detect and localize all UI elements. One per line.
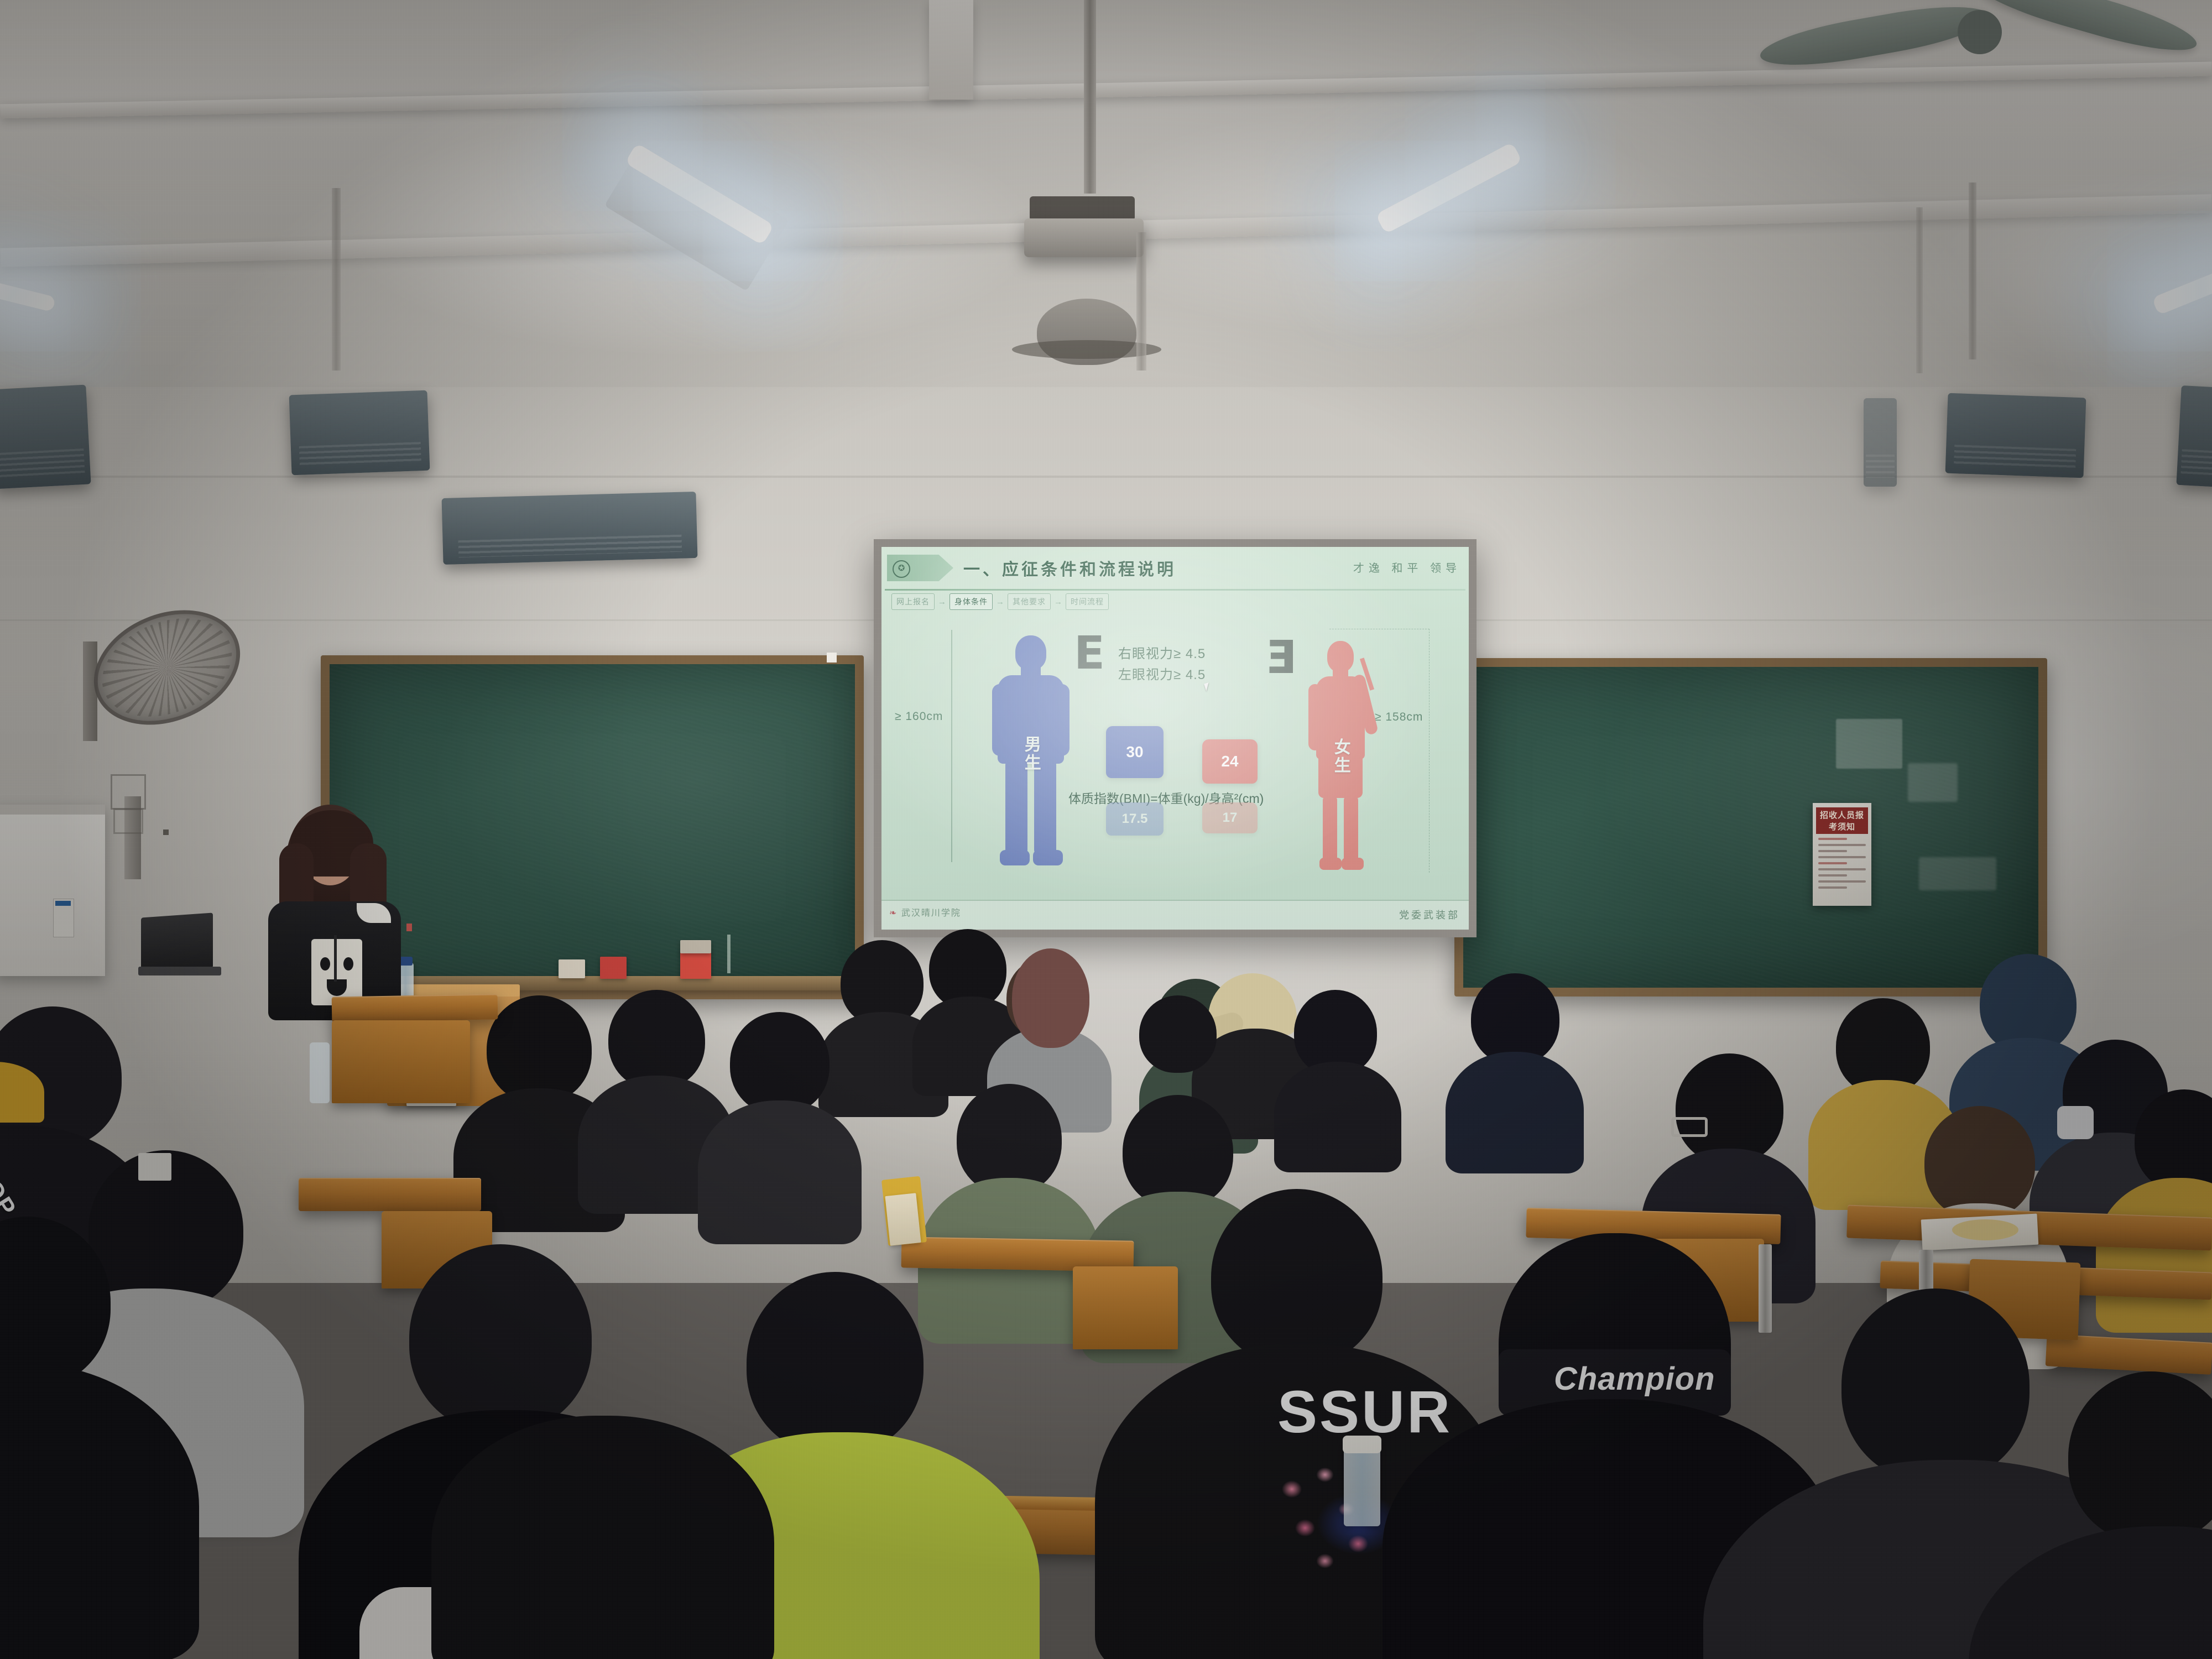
whiteboard-panel (0, 805, 105, 976)
projector (1024, 218, 1144, 257)
wall-pipe (332, 188, 341, 371)
poster-text-line (1818, 862, 1847, 864)
desk-row (2046, 1334, 2212, 1375)
flow-step-4[interactable]: 时间流程 (1066, 593, 1109, 610)
poster-text-line (1818, 874, 1847, 877)
beanie-brand-text: Champion (1554, 1360, 1715, 1397)
wall-pipe (1969, 182, 1976, 359)
wall-speaker (1945, 393, 2086, 478)
flow-arrow-icon: → (1054, 597, 1062, 607)
bottle-cap-front (1343, 1436, 1381, 1453)
bmi-min-male: 17.5 (1106, 802, 1164, 836)
vision-requirement-left-eye: 左眼视力≥ 4.5 (1118, 666, 1206, 684)
seat-back (332, 1020, 470, 1103)
seat-back (1073, 1266, 1178, 1349)
flow-arrow-icon: → (938, 597, 946, 607)
flow-step-2[interactable]: 身体条件 (950, 593, 993, 610)
wall-fixture (111, 774, 146, 810)
chalk-smudge (1836, 719, 1902, 769)
height-req-male: ≥ 160cm (895, 710, 943, 723)
poster-text-line (1818, 844, 1866, 846)
laptop-screen (141, 912, 213, 973)
male-silhouette: 男生 (992, 635, 1070, 873)
poster-text-line (1818, 880, 1866, 883)
flow-steps: 网上报名 → 身体条件 → 其他要求 → 时间流程 (891, 593, 1109, 610)
header-rule (885, 589, 1465, 591)
classroom-photo: 招收人员报考须知 ✪ 一、应征条件和流程说明 才逸 和平 领导 网上报名 → 身… (0, 0, 2212, 1659)
ceiling-fan (1759, 0, 2212, 105)
bottle-on-ledge (310, 1042, 330, 1103)
slide-content: ✪ 一、应征条件和流程说明 才逸 和平 领导 网上报名 → 身体条件 → 其他要… (881, 547, 1469, 930)
laptop-base (138, 967, 221, 975)
chalk-smudge (1919, 857, 1996, 890)
desk-row (332, 994, 498, 1022)
chalk-box-lid (680, 940, 711, 953)
notice-poster: 招收人员报考须知 (1813, 803, 1871, 906)
military-emblem-icon: ✪ (893, 560, 910, 578)
poster-text-line (1818, 850, 1847, 852)
whiteboard-top-rail (0, 805, 105, 815)
wall-fixture (113, 808, 143, 834)
chalk-smudge (1908, 763, 1958, 802)
chalk-box (680, 951, 711, 979)
wall-speaker (289, 390, 430, 476)
control-label (55, 901, 71, 906)
bmi-max-female: 24 (1202, 739, 1258, 784)
poster-text-line (1818, 838, 1847, 840)
poster-text-line (1818, 868, 1866, 870)
bmi-max-male: 30 (1106, 726, 1164, 778)
female-silhouette: 女生 (1307, 641, 1374, 873)
water-bottle-front (1344, 1443, 1380, 1526)
female-label: 女生 (1332, 738, 1349, 775)
desk-row (299, 1178, 481, 1211)
wall-speaker-wide (442, 492, 698, 565)
presenter (252, 805, 412, 1026)
university-logo-text: 武汉晴川学院 (901, 909, 961, 918)
slide-header: ✪ 一、应征条件和流程说明 才逸 和平 领导 (881, 552, 1469, 583)
wall-pipe (1916, 207, 1923, 373)
chalk-box (559, 959, 585, 978)
desk-note (885, 1193, 921, 1245)
poster-text-line (1818, 856, 1866, 858)
chalkboard-right (1454, 658, 2047, 997)
conduit-pipe (1136, 232, 1146, 371)
wall-speaker (2176, 385, 2212, 488)
desk-plate (1952, 1219, 2018, 1240)
poster-text-line (1818, 886, 1847, 889)
glasses-icon (1671, 1117, 1708, 1137)
vision-requirement-right-eye: 右眼视力≥ 4.5 (1118, 645, 1206, 663)
height-guide-male (951, 630, 952, 862)
bmi-min-female: 17 (1202, 802, 1258, 833)
face-mask (2057, 1106, 2094, 1139)
projector-bracket (1030, 196, 1135, 221)
flow-step-3[interactable]: 其他要求 (1008, 593, 1051, 610)
slide-title: 一、应征条件和流程说明 (963, 556, 1176, 580)
chalk-stick (727, 935, 731, 973)
slide-footer: ❧ 武汉晴川学院 党委武装部 (881, 900, 1469, 930)
desk-paper-left (138, 1153, 171, 1181)
mouse-cursor-icon (1204, 682, 1211, 691)
projector-mount-pole (1084, 0, 1096, 194)
wall-screw (163, 830, 169, 835)
flow-arrow-icon: → (996, 597, 1004, 607)
university-logo: ❧ 武汉晴川学院 (889, 905, 961, 919)
flow-step-1[interactable]: 网上报名 (891, 593, 935, 610)
projection-screen: ✪ 一、应征条件和流程说明 才逸 和平 领导 网上报名 → 身体条件 → 其他要… (874, 539, 1477, 937)
male-label: 男生 (1022, 735, 1040, 772)
wall-bracket (1864, 398, 1897, 487)
wall-speaker (0, 385, 91, 489)
footer-department: 党委武装部 (1399, 907, 1460, 922)
board-clip (827, 653, 837, 662)
eye-chart-E-left: E (1074, 635, 1105, 672)
slide-header-right: 才逸 和平 领导 (1353, 559, 1461, 575)
eye-chart-E-right: Ǝ (1265, 640, 1296, 676)
height-req-female: ≥ 158cm (1375, 711, 1423, 724)
poster-heading: 招收人员报考须知 (1816, 807, 1868, 834)
ceiling-beam-vertical (929, 0, 973, 100)
chalk-box (600, 957, 627, 979)
desk-leg (1759, 1244, 1772, 1333)
